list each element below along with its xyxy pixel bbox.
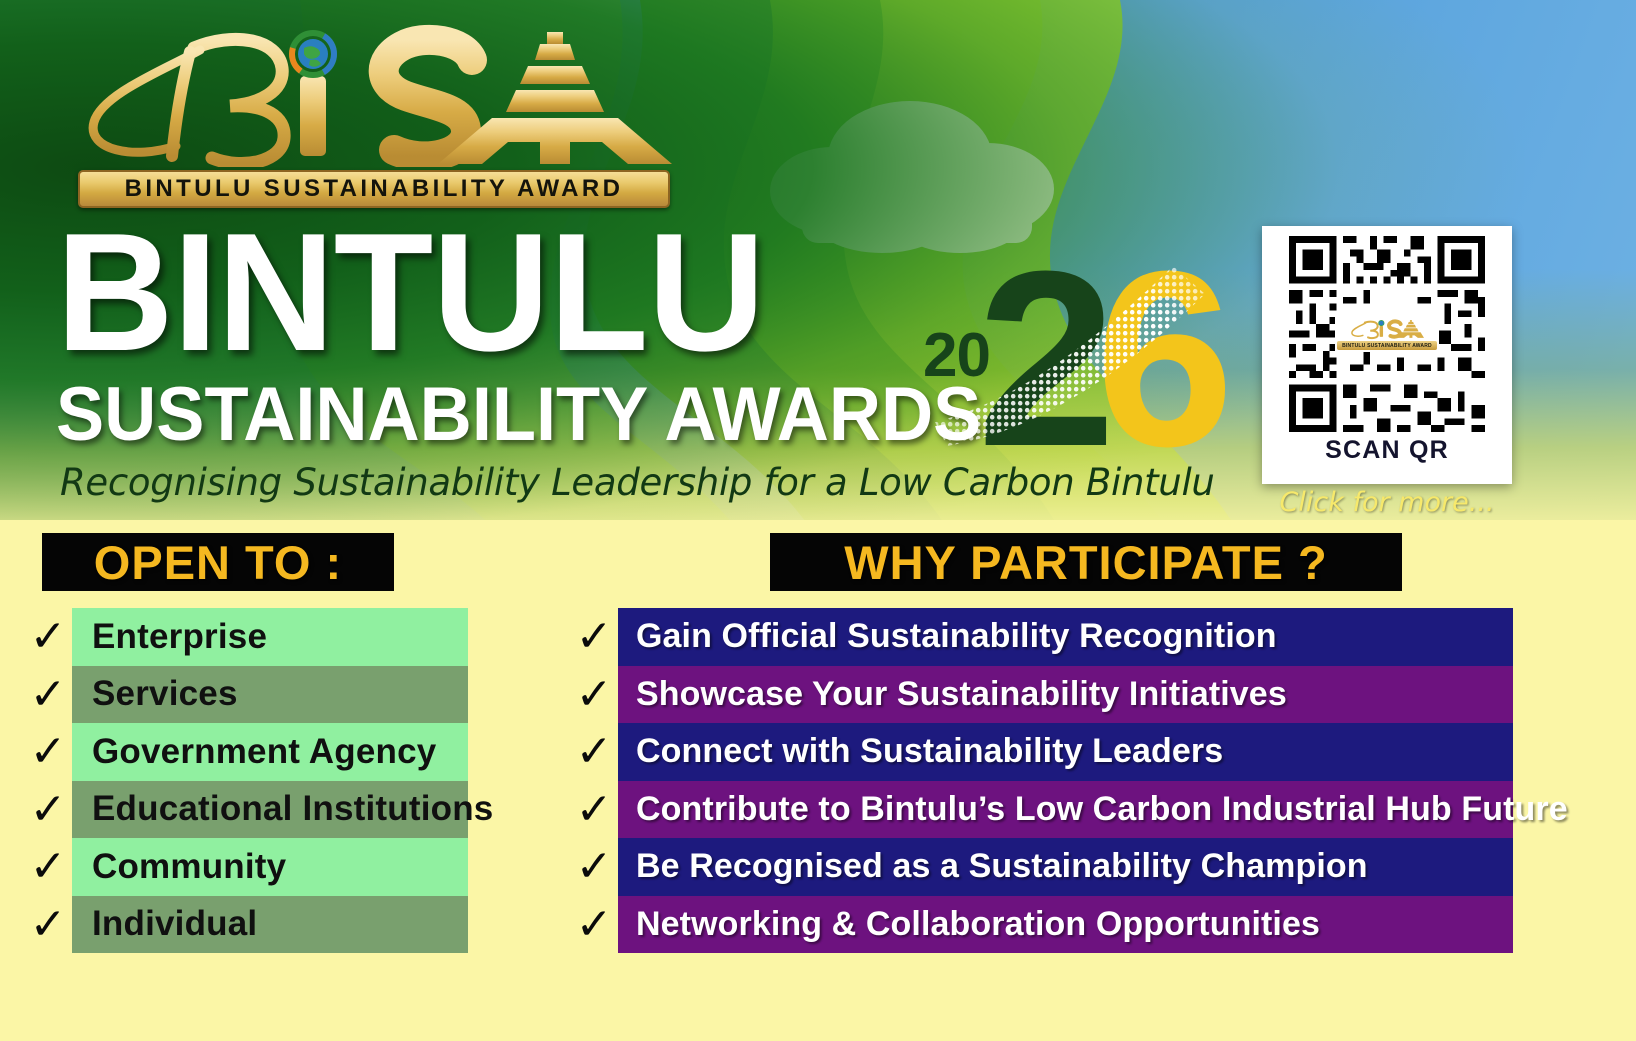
check-icon: ✓ [570,615,618,659]
section-header-why-participate: WHY PARTICIPATE ? [770,533,1402,591]
open-to-row-bar: Individual [72,896,468,954]
open-to-list: ✓ Enterprise ✓ Services ✓ Government Age… [24,608,484,953]
globe-icon [292,33,334,75]
why-participate-label: Showcase Your Sustainability Initiatives [636,675,1287,714]
check-icon: ✓ [570,730,618,774]
list-item: ✓ Individual [24,896,484,954]
qr-embedded-band: BINTULU SUSTAINABILITY AWARD [1337,341,1437,350]
open-to-label: Enterprise [92,617,267,657]
list-item: ✓ Educational Institutions [24,781,484,839]
open-to-row-bar: Services [72,666,468,724]
why-participate-row-bar: Connect with Sustainability Leaders [618,723,1513,781]
list-item: ✓ Be Recognised as a Sustainability Cham… [570,838,1520,896]
qr-code[interactable]: BINTULU SUSTAINABILITY AWARD [1283,236,1491,432]
open-to-label: Individual [92,904,257,944]
open-to-label: Community [92,847,286,887]
qr-embedded-bisa-icon [1350,318,1424,340]
why-participate-label: Be Recognised as a Sustainability Champi… [636,847,1368,886]
why-participate-list: ✓ Gain Official Sustainability Recogniti… [570,608,1520,953]
check-icon: ✓ [24,788,72,832]
why-participate-label: Networking & Collaboration Opportunities [636,905,1320,944]
list-item: ✓ Contribute to Bintulu’s Low Carbon Ind… [570,781,1520,839]
open-to-row-bar: Government Agency [72,723,468,781]
qr-caption: SCAN QR [1325,436,1449,465]
open-to-label: Services [92,674,238,714]
why-participate-row-bar: Networking & Collaboration Opportunities [618,896,1513,954]
open-to-row-bar: Educational Institutions [72,781,468,839]
check-icon: ✓ [24,730,72,774]
bisa-wordmark [72,22,672,167]
open-to-row-bar: Enterprise [72,608,468,666]
bisa-logo[interactable]: BINTULU SUSTAINABILITY AWARD [72,22,672,212]
check-icon: ✓ [570,788,618,832]
check-icon: ✓ [24,845,72,889]
list-item: ✓ Community [24,838,484,896]
qr-embedded-logo: BINTULU SUSTAINABILITY AWARD [1335,316,1439,352]
list-item: ✓ Connect with Sustainability Leaders [570,723,1520,781]
check-icon: ✓ [24,903,72,947]
halftone-swoosh-icon [905,232,1225,512]
section-header-why-participate-label: WHY PARTICIPATE ? [844,535,1328,590]
year-graphic: 2 6 20 [905,232,1225,512]
poster-root: BINTULU SUSTAINABILITY AWARD BINTULU SUS… [0,0,1636,1041]
check-icon: ✓ [570,845,618,889]
check-icon: ✓ [570,673,618,717]
why-participate-row-bar: Showcase Your Sustainability Initiatives [618,666,1513,724]
section-header-open-to-label: OPEN TO : [94,535,342,590]
list-item: ✓ Government Agency [24,723,484,781]
why-participate-label: Connect with Sustainability Leaders [636,732,1223,771]
why-participate-row-bar: Gain Official Sustainability Recognition [618,608,1513,666]
section-header-open-to: OPEN TO : [42,533,394,591]
why-participate-label: Gain Official Sustainability Recognition [636,617,1277,656]
why-participate-label: Contribute to Bintulu’s Low Carbon Indus… [636,790,1568,829]
check-icon: ✓ [570,903,618,947]
list-item: ✓ Showcase Your Sustainability Initiativ… [570,666,1520,724]
list-item: ✓ Networking & Collaboration Opportuniti… [570,896,1520,954]
list-item: ✓ Enterprise [24,608,484,666]
list-item: ✓ Gain Official Sustainability Recogniti… [570,608,1520,666]
check-icon: ✓ [24,673,72,717]
check-icon: ✓ [24,615,72,659]
why-participate-row-bar: Be Recognised as a Sustainability Champi… [618,838,1513,896]
open-to-label: Educational Institutions [92,789,493,829]
why-participate-row-bar: Contribute to Bintulu’s Low Carbon Indus… [618,781,1513,839]
open-to-row-bar: Community [72,838,468,896]
qr-click-for-more-link[interactable]: Click for more... [1262,487,1512,518]
list-item: ✓ Services [24,666,484,724]
open-to-label: Government Agency [92,732,436,772]
qr-card[interactable]: BINTULU SUSTAINABILITY AWARD SCAN QR [1262,226,1512,484]
